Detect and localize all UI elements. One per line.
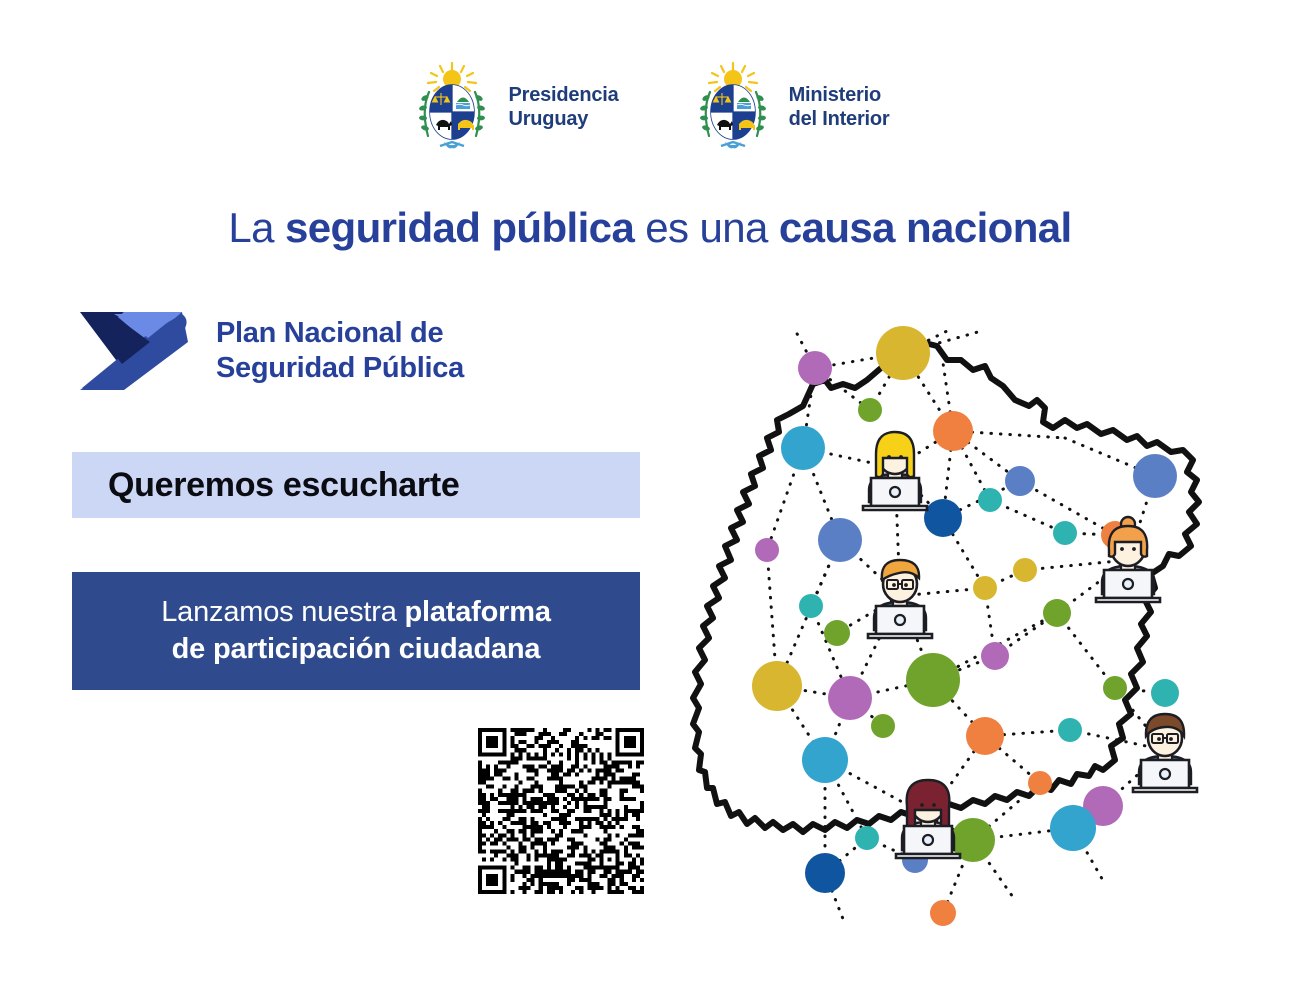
banner-light-label: Queremos escucharte bbox=[72, 466, 459, 505]
headline-part-3: es una bbox=[634, 204, 779, 251]
laptop-logo-icon bbox=[890, 487, 900, 497]
person-eye-right bbox=[1132, 547, 1136, 551]
person-eye-right bbox=[1169, 737, 1173, 741]
person-brown-hair-boy bbox=[1133, 714, 1197, 792]
laptop-base bbox=[868, 634, 932, 638]
laptop-base bbox=[896, 854, 960, 858]
headline-part-1: La bbox=[228, 204, 285, 251]
laptop-logo-icon bbox=[895, 615, 905, 625]
map-node bbox=[1013, 558, 1037, 582]
map-node bbox=[871, 714, 895, 738]
map-node bbox=[755, 538, 779, 562]
laptop-base bbox=[863, 506, 927, 510]
chevron-logo-icon bbox=[78, 308, 190, 394]
qr-code[interactable] bbox=[478, 728, 644, 894]
map-node bbox=[802, 737, 848, 783]
person-eye-right bbox=[899, 455, 903, 459]
person-eye-left bbox=[1120, 547, 1124, 551]
map-node bbox=[798, 351, 832, 385]
poster-root: Presidencia Uruguay bbox=[0, 0, 1300, 1000]
map-node bbox=[828, 676, 872, 720]
laptop-logo-icon bbox=[1160, 769, 1170, 779]
map-node bbox=[924, 499, 962, 537]
map-node bbox=[781, 426, 825, 470]
map-node bbox=[973, 576, 997, 600]
logo-ministerio-interior: Ministerio del Interior bbox=[691, 58, 890, 158]
plan-logo-title: Plan Nacional de Seguridad Pública bbox=[216, 316, 464, 387]
map-node bbox=[858, 398, 882, 422]
qr-code-graphic[interactable] bbox=[478, 728, 644, 894]
map-node bbox=[818, 518, 862, 562]
map-node bbox=[824, 620, 850, 646]
map-node bbox=[1103, 676, 1127, 700]
logo-ministerio-label: Ministerio del Interior bbox=[789, 84, 890, 131]
banner-dark-line1-regular: Lanzamos nuestra bbox=[161, 596, 404, 628]
person-eye-left bbox=[887, 455, 891, 459]
person-eye-right bbox=[932, 803, 936, 807]
person-eye-right bbox=[904, 583, 908, 587]
map-node bbox=[1151, 679, 1179, 707]
uruguay-map-graphic bbox=[640, 288, 1290, 948]
laptop-logo-icon bbox=[923, 835, 933, 845]
map-node bbox=[981, 642, 1009, 670]
map-node bbox=[1133, 454, 1177, 498]
map-node bbox=[805, 853, 845, 893]
laptop-base bbox=[1096, 598, 1160, 602]
map-node bbox=[906, 653, 960, 707]
person-eye-left bbox=[892, 583, 896, 587]
person-eye-left bbox=[920, 803, 924, 807]
map-node bbox=[966, 717, 1004, 755]
banner-dark-line2-bold: de participación ciudadana bbox=[172, 633, 541, 665]
page-title: La seguridad pública es una causa nacion… bbox=[0, 205, 1300, 251]
banner-dark-line-1: Lanzamos nuestra plataforma bbox=[161, 594, 551, 631]
logo-presidencia-uruguay: Presidencia Uruguay bbox=[410, 58, 618, 158]
laptop-base bbox=[1133, 788, 1197, 792]
map-node bbox=[876, 326, 930, 380]
laptop-logo-icon bbox=[1123, 579, 1133, 589]
institutional-logos: Presidencia Uruguay bbox=[0, 58, 1300, 158]
map-node bbox=[978, 488, 1002, 512]
uruguay-coat-of-arms-icon bbox=[691, 58, 775, 158]
map-node bbox=[930, 900, 956, 926]
map-node bbox=[1028, 771, 1052, 795]
map-node bbox=[1058, 718, 1082, 742]
banner-queremos-escucharte: Queremos escucharte bbox=[72, 452, 640, 518]
map-node bbox=[799, 594, 823, 618]
logo-presidencia-label: Presidencia Uruguay bbox=[508, 84, 618, 131]
map-node bbox=[855, 826, 879, 850]
map-node bbox=[752, 661, 802, 711]
map-node bbox=[1005, 466, 1035, 496]
map-node bbox=[1050, 805, 1096, 851]
headline-part-2: seguridad pública bbox=[285, 204, 634, 251]
map-node bbox=[1053, 521, 1077, 545]
uruguay-coat-of-arms-icon bbox=[410, 58, 494, 158]
person-eye-left bbox=[1157, 737, 1161, 741]
headline-part-4: causa nacional bbox=[779, 204, 1072, 251]
banner-dark-line1-bold: plataforma bbox=[404, 596, 550, 628]
uruguay-network-map bbox=[640, 288, 1290, 948]
map-node bbox=[933, 411, 973, 451]
banner-dark-line-2: de participación ciudadana bbox=[172, 631, 541, 668]
map-node bbox=[1043, 599, 1071, 627]
banner-plataforma: Lanzamos nuestra plataforma de participa… bbox=[72, 572, 640, 690]
plan-logo-block: Plan Nacional de Seguridad Pública bbox=[78, 308, 464, 394]
